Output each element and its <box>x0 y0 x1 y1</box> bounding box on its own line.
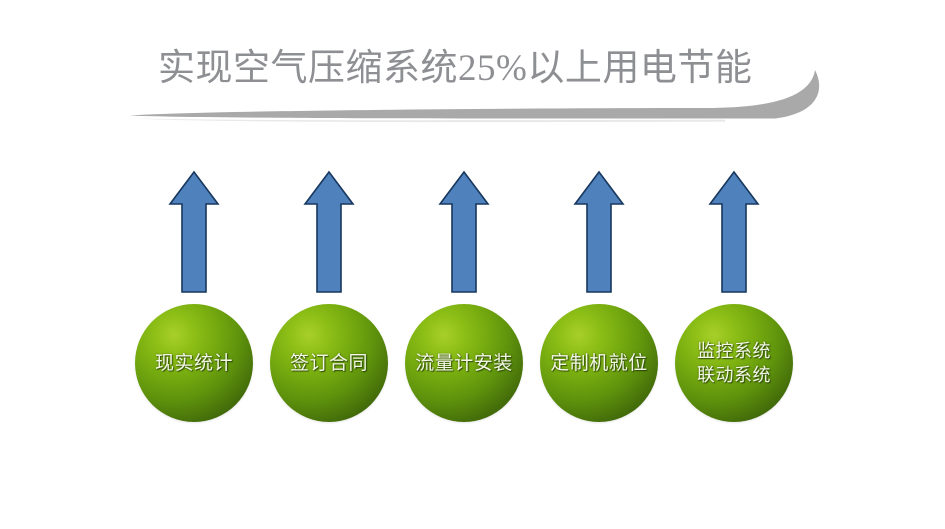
process-node-5[interactable]: 监控系统 联动系统 <box>675 304 793 422</box>
slide-canvas: 实现空气压缩系统25%以上用电节能 现实统计 签订合同 流量计安装 定制机就位 … <box>0 0 945 529</box>
up-arrow-icon-1 <box>168 170 220 294</box>
arrow-shape <box>710 172 758 292</box>
process-node-label: 监控系统 联动系统 <box>697 339 771 387</box>
page-title: 实现空气压缩系统25%以上用电节能 <box>158 40 758 98</box>
process-node-2[interactable]: 签订合同 <box>270 304 388 422</box>
title-block: 实现空气压缩系统25%以上用电节能 <box>125 40 825 135</box>
process-node-4[interactable]: 定制机就位 <box>540 304 658 422</box>
process-node-label: 现实统计 <box>155 352 233 375</box>
up-arrow-icon-4 <box>573 170 625 294</box>
process-node-1[interactable]: 现实统计 <box>135 304 253 422</box>
process-node-3[interactable]: 流量计安装 <box>405 304 523 422</box>
up-arrow-icon-5 <box>708 170 760 294</box>
process-node-label: 定制机就位 <box>550 352 648 375</box>
arrow-shape <box>575 172 623 292</box>
swoosh-bar <box>129 108 745 119</box>
arrow-shape <box>440 172 488 292</box>
up-arrow-icon-3 <box>438 170 490 294</box>
process-node-label: 流量计安装 <box>415 352 513 375</box>
arrow-shape <box>305 172 353 292</box>
swoosh-highlight <box>131 118 725 122</box>
arrow-shape <box>170 172 218 292</box>
process-node-label: 签订合同 <box>290 352 368 375</box>
up-arrow-icon-2 <box>303 170 355 294</box>
